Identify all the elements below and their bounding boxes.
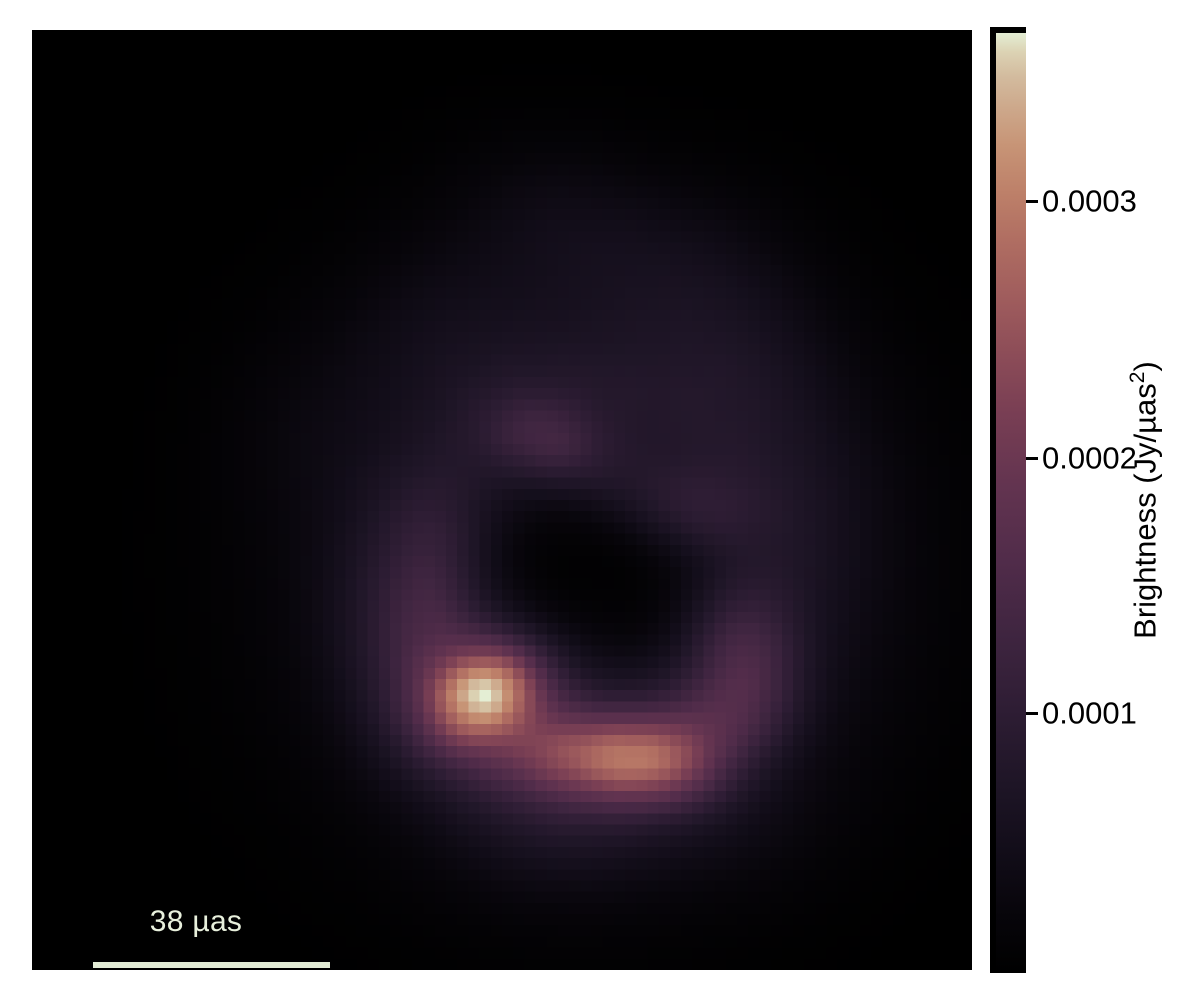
figure-root: 38 µas 0.00030.00020.0001 Brightness (Jy… [0, 0, 1200, 1000]
colorbar-tick-1 [1026, 457, 1038, 460]
colorbar-axis-label: Brightness (Jy/µas2) [1118, 27, 1158, 973]
colorbar-tick-2 [1026, 712, 1038, 715]
black-hole-image-panel[interactable]: 38 µas [32, 30, 972, 970]
colorbar-gradient [996, 33, 1026, 973]
colorbar-frame[interactable] [990, 27, 1026, 973]
colorbar-label-superscript: 2 [1126, 371, 1149, 383]
colorbar-tick-0 [1026, 200, 1038, 203]
brightness-heatmap-canvas[interactable] [32, 30, 972, 970]
colorbar-group: 0.00030.00020.0001 Brightness (Jy/µas2) [990, 27, 1200, 973]
